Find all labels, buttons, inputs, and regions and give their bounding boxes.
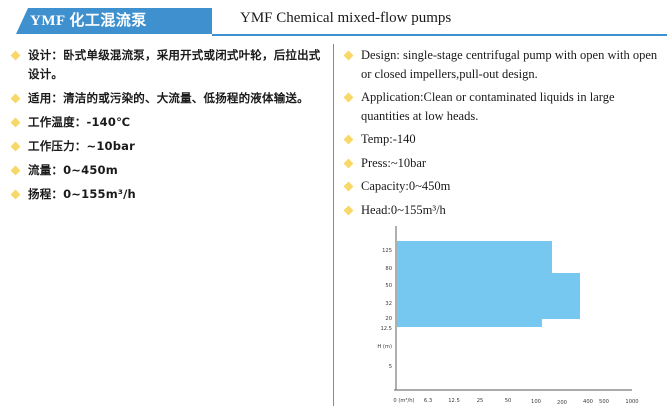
page-title-en: YMF Chemical mixed-flow pumps (240, 10, 451, 27)
list-item: Temp:-140 (341, 130, 663, 149)
list-item: Press:~10bar (341, 154, 663, 173)
list-item-label: 工作压力：~10bar (28, 137, 328, 156)
list-item: 流量：0~450m (8, 161, 328, 180)
chart-x-tick-labels: 0 (m³/h) 6.3 12.5 25 50 100 200 400 500 … (393, 398, 638, 406)
list-item: 工作温度：-140℃ (8, 113, 328, 132)
x-tick: 12.5 (448, 398, 460, 404)
list-item: 适用：清洁的或污染的、大流量、低扬程的液体输送。 (8, 89, 328, 108)
diamond-bullet-icon (11, 94, 21, 104)
list-item-label: Application:Clean or contaminated liquid… (361, 88, 663, 125)
list-item-label: 流量：0~450m (28, 161, 328, 180)
y-tick: 50 (385, 283, 392, 289)
list-item-label: 扬程：0~155m³/h (28, 185, 328, 204)
header-divider-rule (212, 34, 667, 36)
x-tick: 25 (477, 398, 484, 404)
list-item-label: Head:0~155m³/h (361, 201, 663, 220)
y-tick: 80 (385, 266, 392, 272)
column-divider (333, 44, 334, 406)
diamond-bullet-icon (11, 166, 21, 176)
diamond-bullet-icon (344, 51, 354, 61)
diamond-bullet-icon (344, 93, 354, 103)
y-tick: 125 (382, 248, 392, 254)
diamond-bullet-icon (11, 118, 21, 128)
diamond-bullet-icon (344, 182, 354, 192)
y-tick: 20 (385, 316, 392, 322)
spec-list-en: Design: single-stage centrifugal pump wi… (341, 46, 663, 224)
x-axis-label: 0 (m³/h) (393, 398, 414, 404)
list-item-label: 工作温度：-140℃ (28, 113, 328, 132)
x-tick: 400 (583, 399, 593, 405)
diamond-bullet-icon (11, 51, 21, 61)
diamond-bullet-icon (344, 205, 354, 215)
list-item: 工作压力：~10bar (8, 137, 328, 156)
list-item: Capacity:0~450m (341, 177, 663, 196)
x-tick: 1000 (625, 399, 638, 405)
list-item: Design: single-stage centrifugal pump wi… (341, 46, 663, 83)
x-tick: 100 (531, 399, 541, 405)
x-tick: 500 (599, 399, 609, 405)
y-tick: 32 (385, 301, 392, 307)
list-item-label: Press:~10bar (361, 154, 663, 173)
y-tick: 5 (389, 364, 392, 370)
list-item: 设计：卧式单级混流泵，采用开式或闭式叶轮，后拉出式设计。 (8, 46, 328, 84)
list-item-label: Temp:-140 (361, 130, 663, 149)
performance-envelope-chart: 125 80 50 32 20 12.5 H (m) 5 0 (m³/h) 6.… (370, 222, 660, 414)
list-item-label: Capacity:0~450m (361, 177, 663, 196)
spec-list-zh: 设计：卧式单级混流泵，采用开式或闭式叶轮，后拉出式设计。 适用：清洁的或污染的、… (8, 46, 328, 209)
list-item-label: 设计：卧式单级混流泵，采用开式或闭式叶轮，后拉出式设计。 (28, 46, 328, 84)
x-tick: 6.3 (424, 398, 432, 404)
page-header: YMF 化工混流泵 YMF Chemical mixed-flow pumps (0, 0, 667, 40)
list-item: Application:Clean or contaminated liquid… (341, 88, 663, 125)
chart-envelope-area (397, 241, 580, 327)
y-axis-label: H (m) (377, 344, 392, 350)
list-item: Head:0~155m³/h (341, 201, 663, 220)
y-tick: 12.5 (380, 326, 392, 332)
diamond-bullet-icon (344, 158, 354, 168)
diamond-bullet-icon (11, 190, 21, 200)
page-title-zh: YMF 化工混流泵 (30, 9, 210, 33)
list-item-label: Design: single-stage centrifugal pump wi… (361, 46, 663, 83)
chart-y-tick-labels: 125 80 50 32 20 12.5 H (m) 5 (377, 248, 392, 370)
list-item: 扬程：0~155m³/h (8, 185, 328, 204)
diamond-bullet-icon (11, 142, 21, 152)
x-tick: 50 (505, 398, 512, 404)
x-tick: 200 (557, 400, 567, 406)
diamond-bullet-icon (344, 135, 354, 145)
list-item-label: 适用：清洁的或污染的、大流量、低扬程的液体输送。 (28, 89, 328, 108)
